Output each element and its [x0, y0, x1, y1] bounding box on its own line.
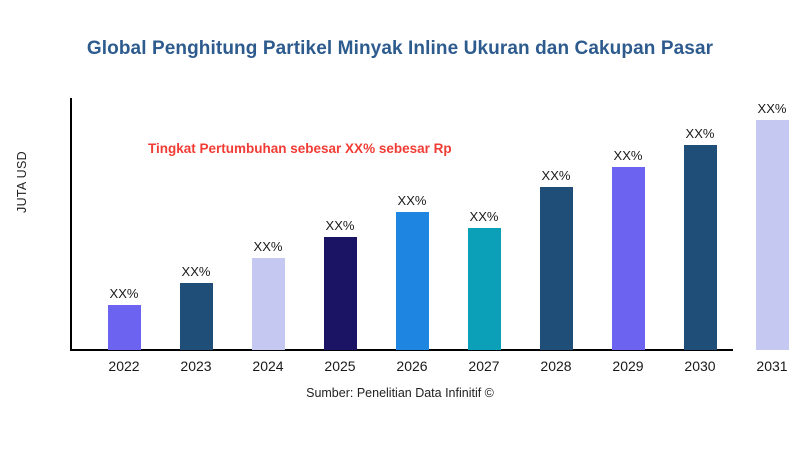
chart-title: Global Penghitung Partikel Minyak Inline… — [0, 38, 800, 60]
x-tick-2025: 2025 — [310, 358, 370, 374]
plot-area: XX%XX%XX%XX%XX%XX%XX%XX%XX%XX% — [70, 98, 733, 350]
y-axis-label: JUTA USD — [15, 137, 29, 227]
bar-2026[interactable] — [396, 212, 429, 350]
bar-value-label-2022: XX% — [110, 286, 139, 301]
bar-2023[interactable] — [180, 283, 213, 350]
bar-group: XX% — [396, 98, 429, 350]
bar-group: XX% — [468, 98, 501, 350]
bar-2024[interactable] — [252, 258, 285, 350]
bar-value-label-2031: XX% — [758, 101, 787, 116]
bar-group: XX% — [540, 98, 573, 350]
bar-group: XX% — [252, 98, 285, 350]
bar-value-label-2026: XX% — [398, 193, 427, 208]
bar-group: XX% — [612, 98, 645, 350]
bar-value-label-2024: XX% — [254, 239, 283, 254]
bar-value-label-2027: XX% — [470, 209, 499, 224]
bar-group: XX% — [756, 98, 789, 350]
x-tick-2028: 2028 — [526, 358, 586, 374]
bar-2031[interactable] — [756, 120, 789, 350]
bar-value-label-2023: XX% — [182, 264, 211, 279]
bar-group: XX% — [684, 98, 717, 350]
bar-value-label-2029: XX% — [614, 148, 643, 163]
chart-container: Global Penghitung Partikel Minyak Inline… — [0, 0, 800, 450]
x-tick-2024: 2024 — [238, 358, 298, 374]
bar-2025[interactable] — [324, 237, 357, 350]
bar-2028[interactable] — [540, 187, 573, 350]
bar-2029[interactable] — [612, 167, 645, 350]
bar-value-label-2028: XX% — [542, 168, 571, 183]
bar-group: XX% — [108, 98, 141, 350]
bar-2030[interactable] — [684, 145, 717, 350]
x-tick-2026: 2026 — [382, 358, 442, 374]
bar-value-label-2030: XX% — [686, 126, 715, 141]
bar-2022[interactable] — [108, 305, 141, 350]
x-tick-2027: 2027 — [454, 358, 514, 374]
x-tick-2031: 2031 — [742, 358, 800, 374]
bar-2027[interactable] — [468, 228, 501, 350]
x-tick-2029: 2029 — [598, 358, 658, 374]
bar-group: XX% — [324, 98, 357, 350]
bar-group: XX% — [180, 98, 213, 350]
source-note: Sumber: Penelitian Data Infinitif © — [0, 386, 800, 400]
x-tick-2022: 2022 — [94, 358, 154, 374]
bar-value-label-2025: XX% — [326, 218, 355, 233]
x-tick-2023: 2023 — [166, 358, 226, 374]
x-tick-2030: 2030 — [670, 358, 730, 374]
